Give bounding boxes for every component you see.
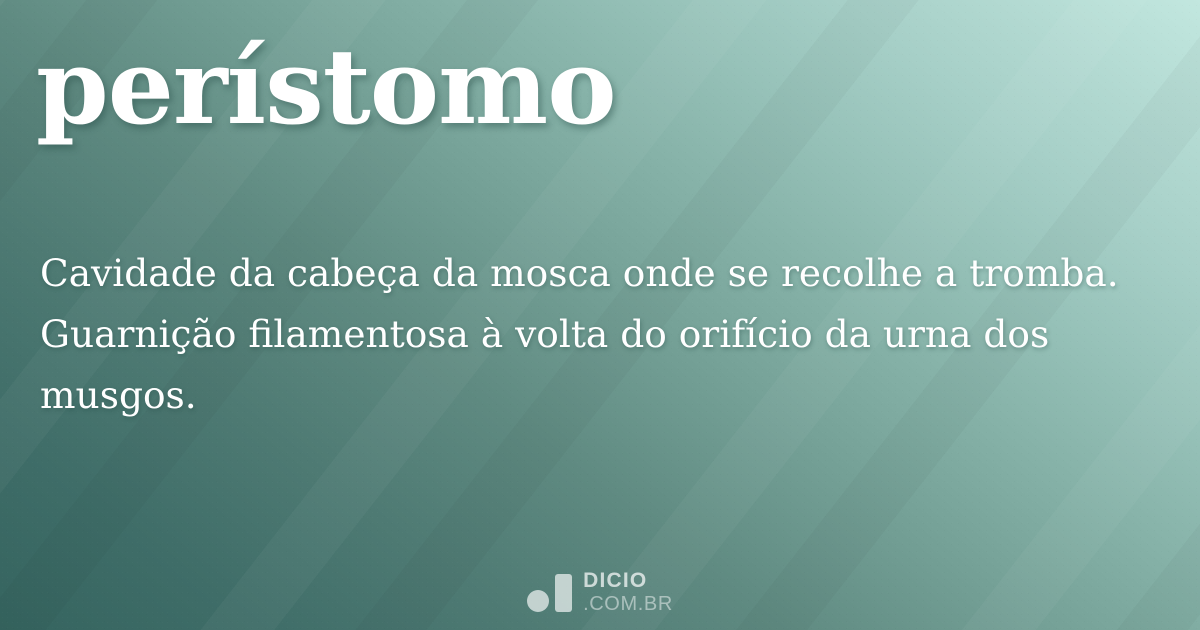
brand-wordmark: DICIO .COM.BR <box>583 570 673 614</box>
brand-name-label: DICIO <box>583 570 673 591</box>
logo-bar-shape <box>555 574 572 612</box>
headword-title: perístomo <box>36 24 616 151</box>
logo-circle-shape <box>527 590 549 612</box>
brand-tld-label: .COM.BR <box>583 594 673 614</box>
dicio-definition-card: perístomo Cavidade da cabeça da mosca on… <box>0 0 1200 630</box>
brand-logo: DICIO .COM.BR <box>0 570 1200 614</box>
card-content: perístomo Cavidade da cabeça da mosca on… <box>0 0 1200 630</box>
definition-list: Cavidade da cabeça da mosca onde se reco… <box>40 243 1166 426</box>
definition-item: Guarnição filamentosa à volta do orifíci… <box>40 304 1166 426</box>
definition-item: Cavidade da cabeça da mosca onde se reco… <box>40 243 1166 304</box>
dicio-logo-mark-icon <box>527 572 572 612</box>
